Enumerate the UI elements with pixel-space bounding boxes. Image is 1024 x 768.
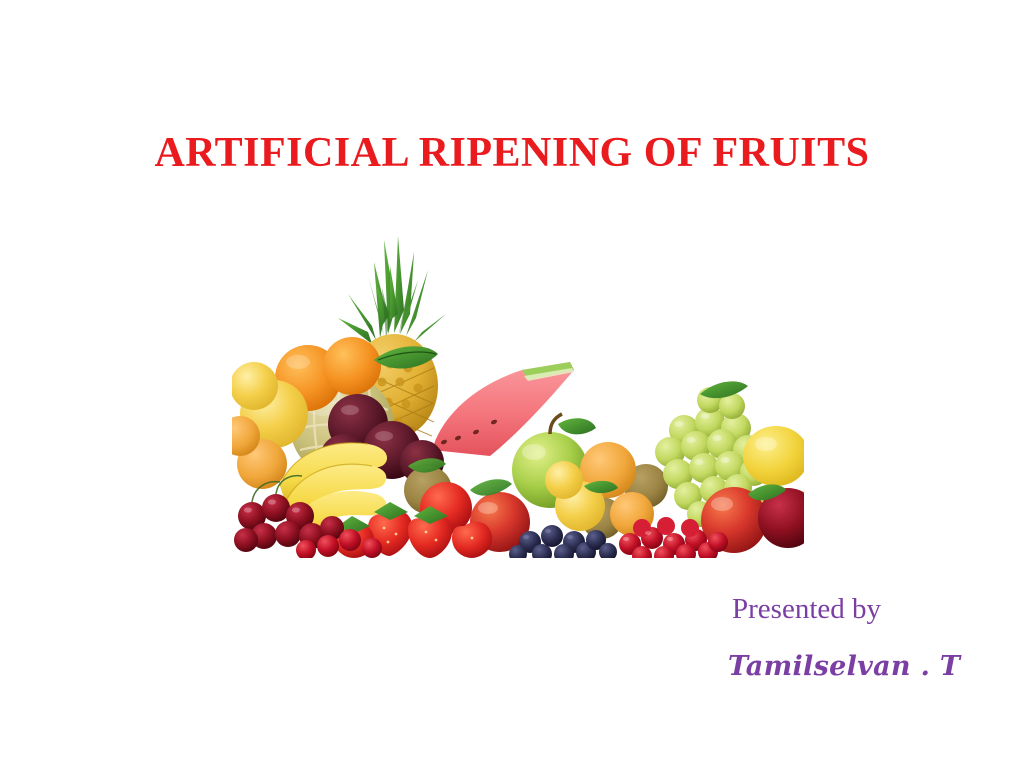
presentation-slide: ARTIFICIAL RIPENING OF FRUITS [0,0,1024,768]
presenter-block: Presented by Tamilselvan . T [700,592,1000,684]
presenter-name: Tamilselvan . T [700,650,1000,684]
fruit-arrangement-image [232,218,804,558]
presented-by-label: Presented by [700,592,1000,626]
page-title: ARTIFICIAL RIPENING OF FRUITS [0,128,1024,178]
